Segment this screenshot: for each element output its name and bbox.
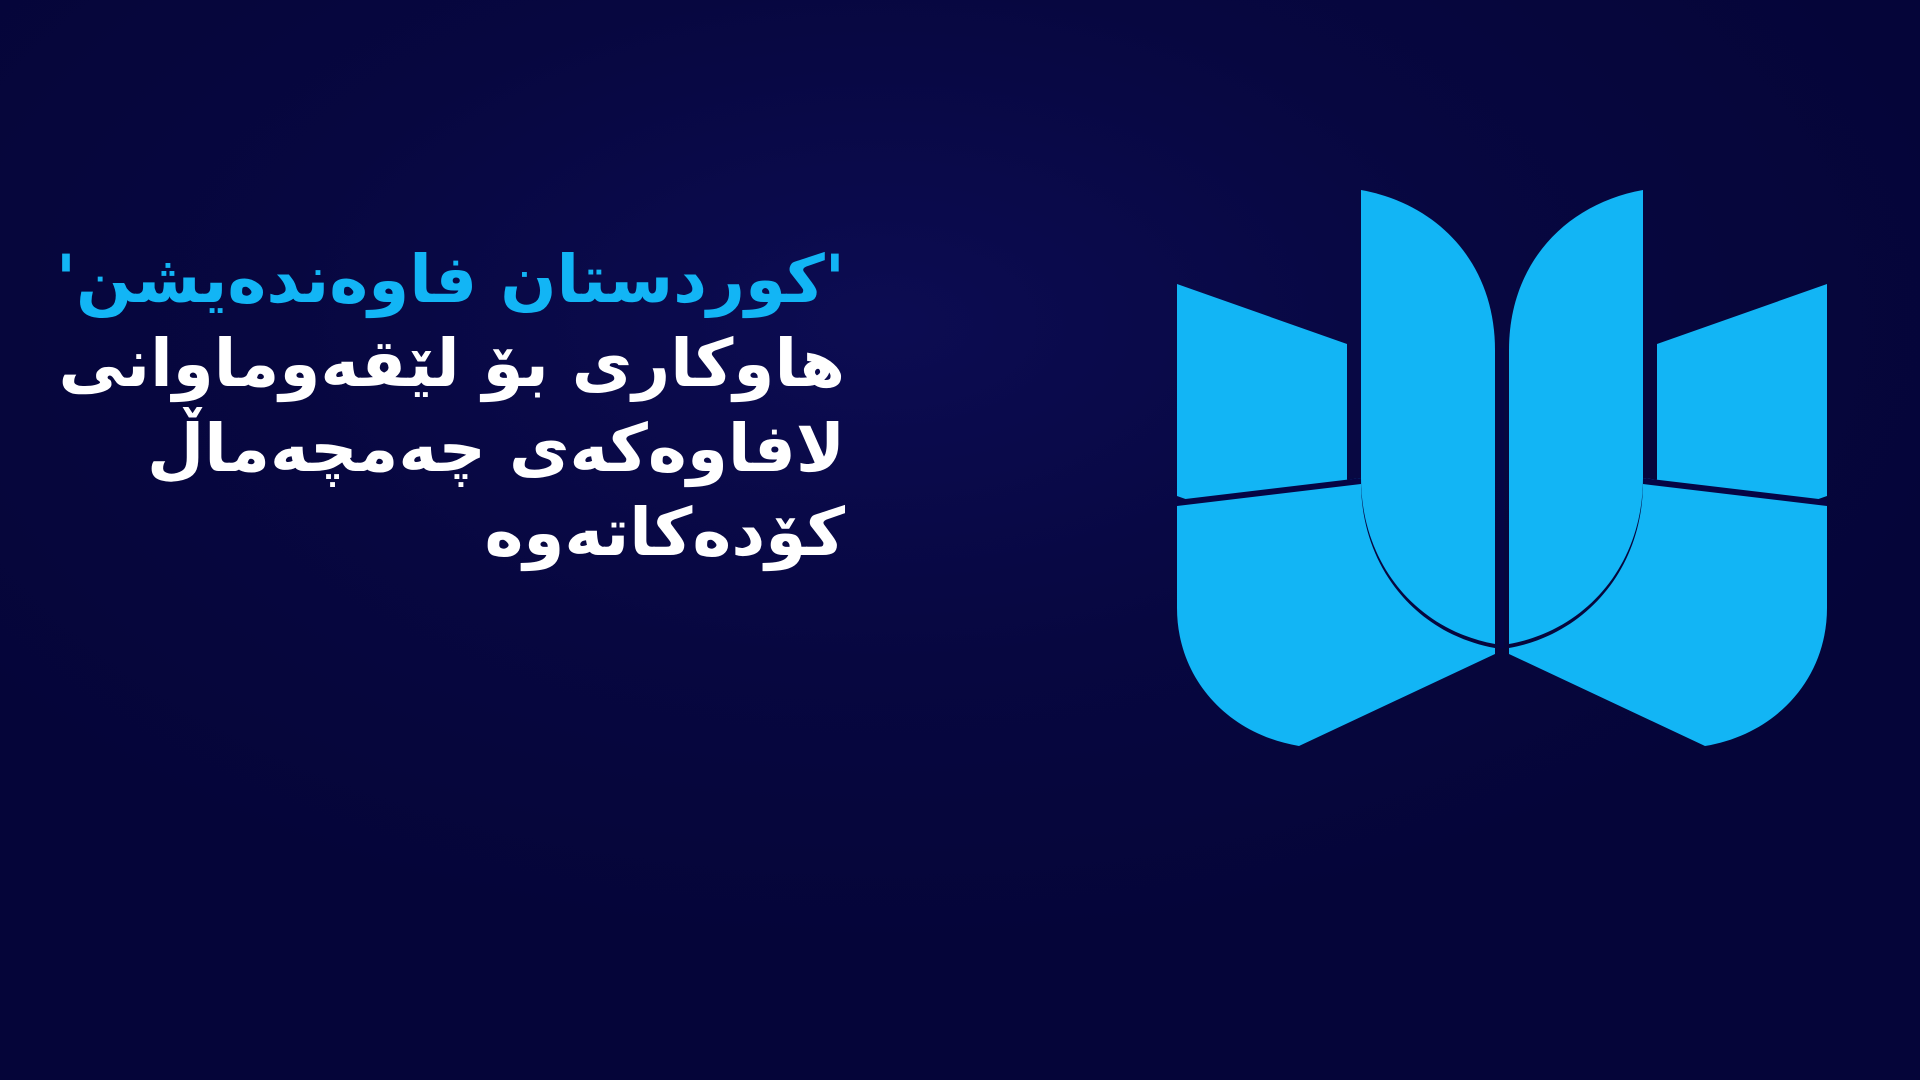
logo-center-seam — [1500, 348, 1504, 648]
headline-line-2: هاوکاری بۆ لێقەوماوانی — [0, 322, 845, 406]
news-graphic-card: 'کوردستان فاوەندەیشن' هاوکاری بۆ لێقەوما… — [0, 0, 1920, 1080]
headline-block: 'کوردستان فاوەندەیشن' هاوکاری بۆ لێقەوما… — [0, 238, 845, 576]
headline-line-4: کۆدەکاتەوە — [0, 491, 845, 575]
kurdistan-foundation-logo — [1165, 178, 1845, 758]
headline-line-1: 'کوردستان فاوەندەیشن' — [0, 238, 845, 322]
headline-line-3: لافاوەکەی چەمچەماڵ — [0, 407, 845, 491]
logo-svg — [1165, 178, 1845, 758]
